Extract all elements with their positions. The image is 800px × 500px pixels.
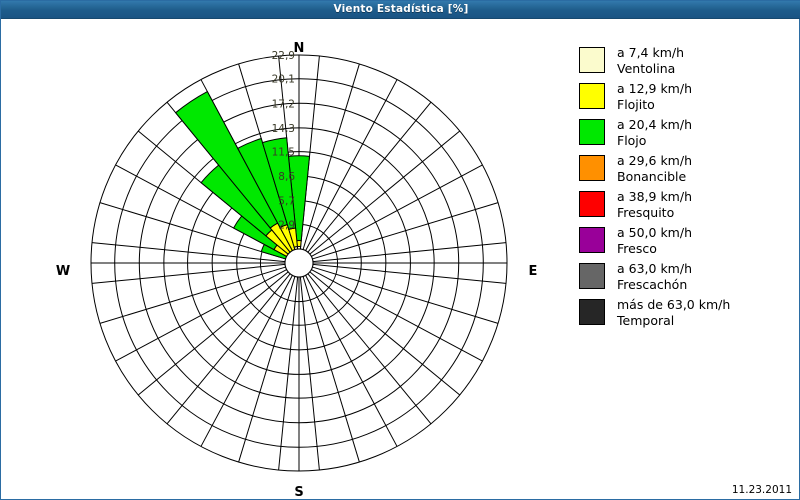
legend-label: a 63,0 km/hFrescachón <box>617 261 692 292</box>
legend-speed-label: a 20,4 km/h <box>617 117 692 132</box>
legend-label: a 29,6 km/hBonancible <box>617 153 692 184</box>
legend-label: más de 63,0 km/hTemporal <box>617 297 730 328</box>
grid-spoke <box>311 165 482 256</box>
grid-spoke <box>116 270 287 361</box>
grid-spoke <box>100 267 286 323</box>
legend-name-label: Flojo <box>617 133 692 149</box>
grid-spoke <box>311 270 482 361</box>
radial-tick-label: 14,3 <box>272 123 295 135</box>
legend-item[interactable]: a 63,0 km/hFrescachón <box>579 261 789 292</box>
grid-spoke <box>138 272 288 395</box>
wind-statistics-window: Viento Estadística [%] 2,95,78,611,514,3… <box>0 0 800 500</box>
grid-spoke <box>308 102 431 252</box>
legend-swatch <box>579 227 605 253</box>
legend-speed-label: a 7,4 km/h <box>617 45 684 60</box>
grid-spoke <box>303 276 359 462</box>
legend-name-label: Fresco <box>617 241 692 257</box>
legend-name-label: Fresquito <box>617 205 692 221</box>
legend-name-label: Frescachón <box>617 277 692 293</box>
legend-name-label: Flojito <box>617 97 692 113</box>
wind-rose-chart: 2,95,78,611,514,317,220,122,9 N S E W <box>1 19 561 499</box>
compass-label-west: W <box>48 264 78 279</box>
window-title-bar: Viento Estadística [%] <box>1 1 800 19</box>
rose-hub <box>285 249 313 277</box>
legend: a 7,4 km/hVentolinaa 12,9 km/hFlojitoa 2… <box>579 45 789 333</box>
legend-label: a 12,9 km/hFlojito <box>617 81 692 112</box>
grid-spoke <box>312 203 498 259</box>
grid-spoke <box>306 275 397 446</box>
compass-label-north: N <box>284 41 314 56</box>
grid-spoke <box>312 267 498 323</box>
legend-label: a 50,0 km/hFresco <box>617 225 692 256</box>
radial-tick-label: 17,2 <box>272 98 295 110</box>
radial-tick-label: 20,1 <box>272 74 295 86</box>
grid-spoke <box>310 131 460 254</box>
radial-tick-label: 2,9 <box>278 219 295 231</box>
legend-swatch <box>579 119 605 145</box>
date-stamp: 11.23.2011 <box>732 484 792 496</box>
legend-item[interactable]: a 20,4 km/hFlojo <box>579 117 789 148</box>
plot-area: 2,95,78,611,514,317,220,122,9 N S E W a … <box>1 19 799 499</box>
radial-tick-label: 5,7 <box>278 196 295 208</box>
legend-label: a 7,4 km/hVentolina <box>617 45 684 76</box>
legend-item[interactable]: a 7,4 km/hVentolina <box>579 45 789 76</box>
compass-label-south: S <box>284 485 314 500</box>
wind-rose-svg: 2,95,78,611,514,317,220,122,9 <box>1 19 561 499</box>
legend-speed-label: a 29,6 km/h <box>617 153 692 168</box>
grid-spoke <box>201 275 292 446</box>
legend-swatch <box>579 155 605 181</box>
legend-swatch <box>579 263 605 289</box>
legend-label: a 38,9 km/hFresquito <box>617 189 692 220</box>
legend-speed-label: a 38,9 km/h <box>617 189 692 204</box>
window-title: Viento Estadística [%] <box>1 1 800 18</box>
legend-item[interactable]: a 38,9 km/hFresquito <box>579 189 789 220</box>
grid-spoke <box>167 274 290 424</box>
legend-name-label: Temporal <box>617 313 730 329</box>
radial-tick-label: 8,6 <box>278 171 295 183</box>
compass-label-east: E <box>518 264 548 279</box>
grid-spoke <box>306 80 397 251</box>
legend-speed-label: más de 63,0 km/h <box>617 297 730 312</box>
legend-item[interactable]: más de 63,0 km/hTemporal <box>579 297 789 328</box>
grid-spoke <box>308 274 431 424</box>
grid-spoke <box>239 276 295 462</box>
legend-item[interactable]: a 50,0 km/hFresco <box>579 225 789 256</box>
legend-speed-label: a 63,0 km/h <box>617 261 692 276</box>
grid-spoke <box>310 272 460 395</box>
legend-item[interactable]: a 29,6 km/hBonancible <box>579 153 789 184</box>
legend-swatch <box>579 299 605 325</box>
legend-name-label: Bonancible <box>617 169 692 185</box>
rose-center-hub <box>285 249 313 277</box>
legend-swatch <box>579 83 605 109</box>
legend-label: a 20,4 km/hFlojo <box>617 117 692 148</box>
legend-speed-label: a 50,0 km/h <box>617 225 692 240</box>
legend-item[interactable]: a 12,9 km/hFlojito <box>579 81 789 112</box>
grid-spoke <box>303 64 359 250</box>
legend-speed-label: a 12,9 km/h <box>617 81 692 96</box>
radial-tick-label: 11,5 <box>272 147 295 159</box>
legend-swatch <box>579 47 605 73</box>
legend-swatch <box>579 191 605 217</box>
legend-name-label: Ventolina <box>617 61 684 77</box>
